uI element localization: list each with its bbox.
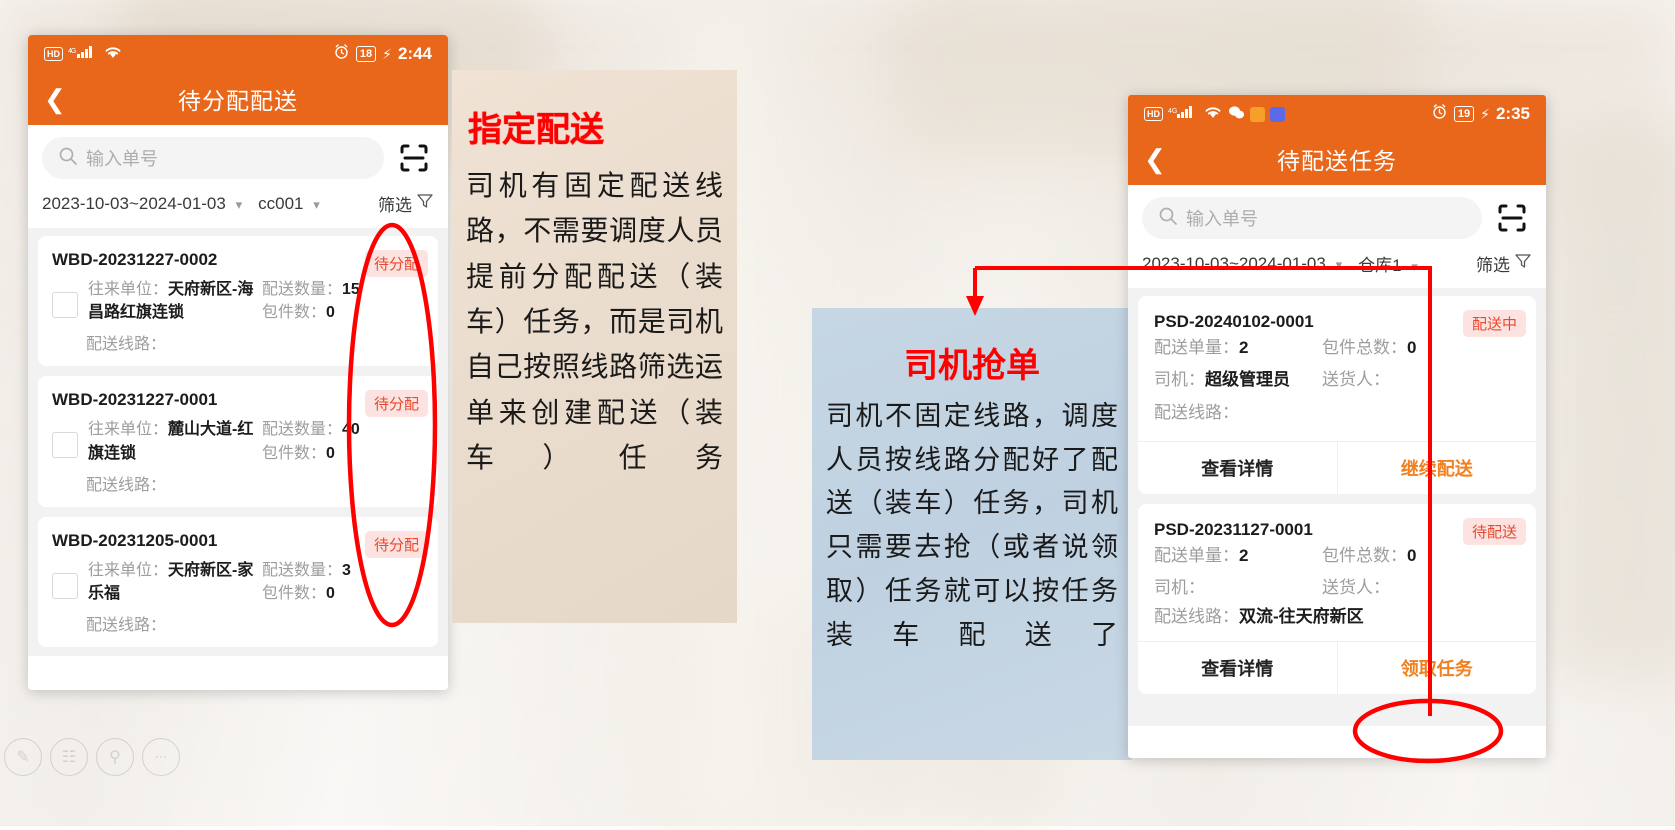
select-checkbox[interactable] (52, 573, 78, 599)
signal-icon: 4G (68, 45, 98, 63)
count-value: 2 (1239, 546, 1248, 565)
layers-icon[interactable]: ☷ (50, 738, 88, 776)
filter-label: 筛选 (378, 191, 412, 216)
filter-row-left: 2023-10-03~2024-01-03 ▾ cc001 ▾ 筛选 (28, 185, 448, 228)
status-bar-left: HD 4G 18 ⚡ 2:44 (28, 35, 448, 73)
left-phone-screen: HD 4G 18 ⚡ 2:44 ❮ 待分配配送 (28, 35, 448, 690)
chevron-down-icon: ▾ (313, 197, 320, 212)
order-card[interactable]: WBD-20231205-0001 待分配 往来单位：天府新区-家乐福 配送数量… (38, 517, 438, 647)
search-icon (1158, 206, 1178, 231)
wifi-icon (103, 45, 123, 64)
pkg-value: 0 (326, 445, 335, 462)
funnel-icon (416, 192, 434, 215)
date-range-selector[interactable]: 2023-10-03~2024-01-03 ▾ (42, 194, 242, 214)
order-card[interactable]: WBD-20231227-0002 待分配 往来单位：天府新区-海昌路红旗连锁 … (38, 236, 438, 366)
qty-value: 3 (342, 562, 351, 579)
pkg-label: 包件总数： (1322, 338, 1407, 357)
status-badge: 待分配 (365, 531, 428, 558)
filter-button[interactable]: 筛选 (378, 191, 434, 216)
search-placeholder: 输入单号 (86, 145, 158, 171)
page-title: 待分配配送 (28, 82, 448, 116)
magnifier-icon[interactable]: ⚲ (96, 738, 134, 776)
back-button[interactable]: ❮ (44, 86, 66, 112)
count-label: 配送单量： (1154, 338, 1239, 357)
qty-label: 配送数量： (262, 281, 342, 298)
right-phone-screen: HD 4G 19 ⚡ (1128, 95, 1546, 758)
date-range-selector[interactable]: 2023-10-03~2024-01-03 ▾ (1142, 254, 1342, 274)
charging-icon: ⚡ (1480, 106, 1490, 123)
panel-b-body: 司机不固定线路，调度人员按线路分配好了配送（装车）任务，司机只需要去抢（或者说领… (812, 395, 1132, 657)
chevron-down-icon: ▾ (1336, 257, 1343, 272)
warehouse-selector[interactable]: 仓库1 ▾ (1358, 251, 1418, 276)
task-list-right[interactable]: PSD-20240102-0001 配送中 配送单量：2包件总数：0 司机：超级… (1128, 288, 1546, 726)
claim-task-button[interactable]: 领取任务 (1338, 642, 1537, 694)
annotation-panel-designated-delivery: 指定配送 司机有固定配送线路，不需要调度人员提前分配配送（装车）任务，而是司机自… (452, 70, 737, 623)
pkg-value: 0 (326, 304, 335, 321)
wechat-icon (1228, 105, 1245, 124)
funnel-icon (1514, 252, 1532, 275)
chevron-down-icon: ▾ (236, 197, 243, 212)
view-details-button[interactable]: 查看详情 (1138, 442, 1337, 494)
select-checkbox[interactable] (52, 292, 78, 318)
deliverer-label: 送货人： (1322, 370, 1390, 389)
nav-bar-right: ❮ 待配送任务 (1128, 133, 1546, 185)
panel-b-heading: 司机抢单 (812, 338, 1132, 387)
pkg-label: 包件数： (262, 304, 326, 321)
search-input[interactable]: 输入单号 (1142, 197, 1482, 239)
pkg-label: 包件数： (262, 585, 326, 602)
unit-label: 往来单位： (88, 421, 168, 438)
date-range-value: 2023-10-03~2024-01-03 (1142, 254, 1326, 273)
page-title: 待配送任务 (1128, 142, 1546, 176)
svg-text:4G: 4G (1168, 108, 1177, 115)
floating-mini-toolbar[interactable]: ✎ ☷ ⚲ ⋯ (4, 738, 180, 776)
status-badge: 待分配 (365, 250, 428, 277)
qty-value: 15 (342, 281, 360, 298)
status-bar-right-icons: 19 ⚡ 2:35 (1431, 103, 1530, 125)
route-label: 配送线路： (86, 477, 166, 494)
status-bar-left-icons: HD 4G (1144, 105, 1285, 124)
pkg-value: 0 (1407, 546, 1416, 565)
chevron-down-icon: ▾ (1411, 259, 1418, 274)
music-app-icon (1270, 107, 1285, 122)
filter-row-right: 2023-10-03~2024-01-03 ▾ 仓库1 ▾ 筛选 (1128, 245, 1546, 288)
battery-percent: 19 (1454, 106, 1474, 122)
svg-text:4G: 4G (68, 48, 76, 55)
filter-button[interactable]: 筛选 (1476, 251, 1532, 276)
pkg-label: 包件总数： (1322, 546, 1407, 565)
status-badge: 待配送 (1463, 518, 1526, 545)
panel-a-heading: 指定配送 (468, 102, 737, 151)
alarm-icon (333, 43, 350, 65)
date-range-value: 2023-10-03~2024-01-03 (42, 194, 226, 213)
scan-code-icon[interactable] (1492, 198, 1532, 238)
task-card[interactable]: PSD-20231127-0001 待配送 配送单量：2包件总数：0 司机：送货… (1138, 504, 1536, 694)
pkg-value: 0 (326, 585, 335, 602)
search-input[interactable]: 输入单号 (42, 137, 384, 179)
nav-bar-left: ❮ 待分配配送 (28, 73, 448, 125)
order-card[interactable]: WBD-20231227-0001 待分配 往来单位：麓山大道-红旗连锁 配送数… (38, 376, 438, 506)
qty-value: 40 (342, 421, 360, 438)
charging-icon: ⚡ (382, 46, 392, 63)
signal-icon: 4G (1168, 105, 1198, 124)
panel-a-body: 司机有固定配送线路，不需要调度人员提前分配配送（装车）任务，而是司机自己按照线路… (452, 163, 737, 481)
back-button[interactable]: ❮ (1144, 146, 1166, 172)
status-bar-right: HD 4G 19 ⚡ (1128, 95, 1546, 133)
view-details-button[interactable]: 查看详情 (1138, 642, 1337, 694)
count-value: 2 (1239, 338, 1248, 357)
wifi-icon (1203, 105, 1223, 124)
driver-label: 司机： (1154, 578, 1205, 597)
driver-label: 司机： (1154, 370, 1205, 389)
driver-value: 超级管理员 (1205, 370, 1290, 389)
filter-label: 筛选 (1476, 251, 1510, 276)
pkg-label: 包件数： (262, 445, 326, 462)
route-label: 配送线路： (86, 617, 166, 634)
search-placeholder: 输入单号 (1186, 205, 1258, 231)
task-card[interactable]: PSD-20240102-0001 配送中 配送单量：2包件总数：0 司机：超级… (1138, 296, 1536, 494)
qty-label: 配送数量： (262, 421, 342, 438)
clock-time: 2:35 (1496, 104, 1530, 124)
count-label: 配送单量： (1154, 546, 1239, 565)
select-checkbox[interactable] (52, 432, 78, 458)
continue-delivery-button[interactable]: 继续配送 (1338, 442, 1537, 494)
alarm-icon (1431, 103, 1448, 125)
status-badge: 待分配 (365, 390, 428, 417)
route-label: 配送线路： (1154, 607, 1239, 626)
annotation-panel-driver-grab-order: 司机抢单 司机不固定线路，调度人员按线路分配好了配送（装车）任务，司机只需要去抢… (812, 308, 1132, 760)
route-value: 双流-往天府新区 (1239, 607, 1364, 626)
search-row-right: 输入单号 (1128, 185, 1546, 245)
warehouse-value: 仓库1 (1358, 256, 1401, 275)
route-label: 配送线路： (86, 336, 166, 353)
status-badge: 配送中 (1463, 310, 1526, 337)
unit-label: 往来单位： (88, 281, 168, 298)
status-bar-left-icons: HD 4G (44, 45, 123, 64)
route-label: 配送线路： (1154, 403, 1239, 422)
hd-icon: HD (44, 47, 63, 61)
qty-label: 配送数量： (262, 562, 342, 579)
search-row-left: 输入单号 (28, 125, 448, 185)
scan-code-icon[interactable] (394, 138, 434, 178)
warehouse-value: cc001 (258, 194, 303, 213)
battery-percent: 18 (356, 46, 376, 62)
hd-icon: HD (1144, 107, 1163, 121)
deliverer-label: 送货人： (1322, 578, 1390, 597)
unit-label: 往来单位： (88, 562, 168, 579)
clock-time: 2:44 (398, 44, 432, 64)
status-bar-right-icons: 18 ⚡ 2:44 (333, 43, 432, 65)
search-icon (58, 146, 78, 171)
app-icon-orange (1250, 107, 1265, 122)
more-icon[interactable]: ⋯ (142, 738, 180, 776)
order-list-left[interactable]: WBD-20231227-0002 待分配 往来单位：天府新区-海昌路红旗连锁 … (28, 228, 448, 656)
pkg-value: 0 (1407, 338, 1416, 357)
pen-icon[interactable]: ✎ (4, 738, 42, 776)
warehouse-selector[interactable]: cc001 ▾ (258, 194, 320, 214)
